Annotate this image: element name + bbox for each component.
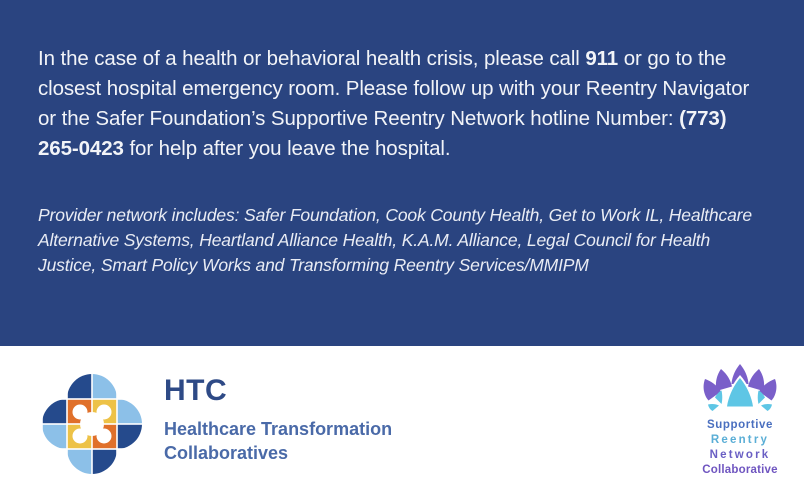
- lotus-crown-icon: [688, 362, 792, 418]
- htc-quatrefoil-icon: [38, 370, 146, 478]
- htc-initials: HTC: [164, 376, 424, 406]
- srn-line-collaborative: Collaborative: [688, 463, 792, 478]
- htc-subtitle: Healthcare Transformation Collaboratives: [164, 417, 424, 465]
- crisis-banner: In the case of a health or behavioral he…: [0, 0, 804, 346]
- srn-line-network: Network: [688, 448, 792, 463]
- crisis-text-part-1: In the case of a health or behavioral he…: [38, 47, 585, 70]
- srn-line-supportive: Supportive: [688, 418, 792, 433]
- crisis-text-part-3: for help after you leave the hospital.: [124, 137, 451, 160]
- crisis-notice-paragraph: In the case of a health or behavioral he…: [38, 44, 766, 164]
- emergency-number: 911: [585, 47, 618, 70]
- flyer-page: In the case of a health or behavioral he…: [0, 0, 804, 502]
- htc-logo: HTC Healthcare Transformation Collaborat…: [38, 370, 424, 478]
- logo-footer: HTC Healthcare Transformation Collaborat…: [0, 346, 804, 502]
- banner-text-container: In the case of a health or behavioral he…: [38, 44, 766, 164]
- provider-network-paragraph: Provider network includes: Safer Foundat…: [38, 203, 770, 278]
- supportive-reentry-network-logo: Supportive Reentry Network Collaborative: [688, 362, 792, 478]
- srn-line-reentry: Reentry: [688, 433, 792, 448]
- htc-wordmark: HTC Healthcare Transformation Collaborat…: [164, 370, 424, 465]
